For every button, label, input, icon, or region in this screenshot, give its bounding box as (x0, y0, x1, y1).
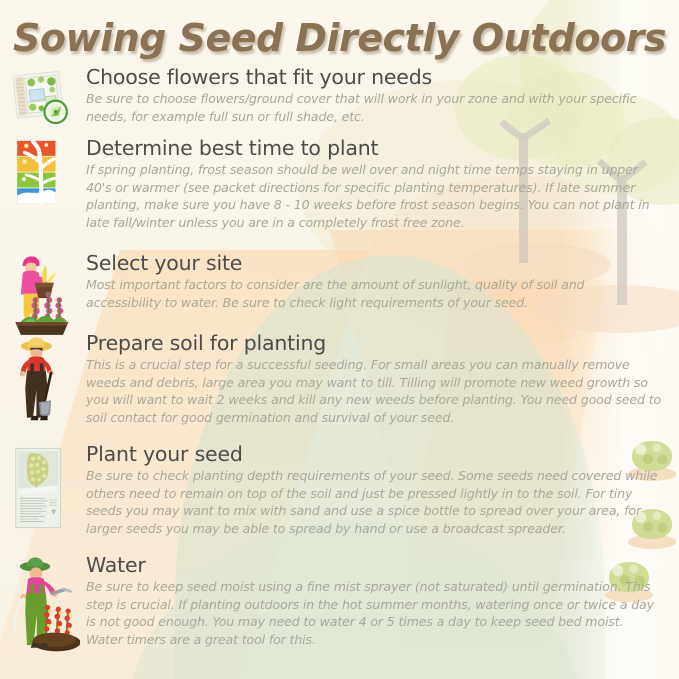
infographic-poster: Sowing Seed Directly Outdoors (0, 0, 679, 679)
step-determine-time: Determine best time to plant If spring p… (8, 137, 674, 231)
step-heading: Prepare soil for planting (86, 332, 662, 355)
step-text: This is a crucial step for a successful … (86, 356, 662, 427)
step-text: Be sure to keep seed moist using a fine … (86, 578, 662, 649)
seed-packet-icon (8, 443, 80, 535)
step-heading: Determine best time to plant (86, 137, 662, 160)
page-title: Sowing Seed Directly Outdoors (0, 16, 679, 60)
step-text: If spring planting, frost season should … (86, 161, 662, 232)
step-water: Water Be sure to keep seed moist using a… (8, 554, 674, 648)
step-text: Most important factors to consider are t… (86, 276, 662, 311)
steps-list: Choose flowers that fit your needs Be su… (0, 0, 679, 679)
step-heading: Choose flowers that fit your needs (86, 66, 662, 89)
step-heading: Water (86, 554, 662, 577)
gardener-with-shovel-icon (8, 332, 80, 424)
step-heading: Plant your seed (86, 443, 662, 466)
step-plant-seed: Plant your seed Be sure to check plantin… (8, 443, 674, 537)
step-select-site: Select your site Most important factors … (8, 252, 674, 311)
step-heading: Select your site (86, 252, 662, 275)
step-prepare-soil: Prepare soil for planting This is a cruc… (8, 332, 674, 426)
step-text: Be sure to choose flowers/ground cover t… (86, 90, 662, 125)
four-seasons-icon (8, 137, 80, 229)
gardener-watering-icon (8, 554, 80, 646)
gardener-with-flowers-icon (8, 252, 80, 344)
step-choose-flowers: Choose flowers that fit your needs Be su… (8, 66, 674, 125)
step-text: Be sure to check planting depth requirem… (86, 467, 662, 538)
